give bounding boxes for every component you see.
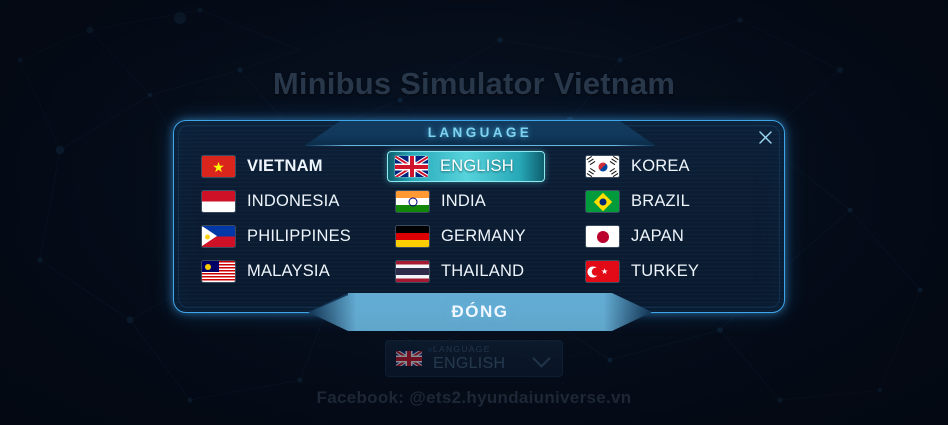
language-option-turkey[interactable]: ★TURKEY [577,256,765,287]
vietnam-flag-icon: ★ [202,156,235,177]
language-option-japan[interactable]: JAPAN [577,221,765,252]
language-dropdown-value: ENGLISH [433,356,505,372]
star-shape: ★ [212,160,225,174]
close-icon [759,131,772,144]
footer-credit: Facebook: @ets2.hyundaiuniverse.vn [0,388,948,408]
japan-flag-icon [586,226,619,247]
language-option-label: INDIA [441,192,486,211]
dialog-header: LANGUAGE [304,121,656,146]
language-dialog: LANGUAGE ★VIETNAMENGLISHKOREAINDONESIAIN… [173,120,785,313]
dialog-header-underline [304,145,656,146]
confirm-button[interactable]: ĐÓNG [308,293,652,331]
language-dropdown-text: LANGUAGE ENGLISH [433,345,505,372]
language-option-korea[interactable]: KOREA [577,151,765,182]
language-option-label: PHILIPPINES [247,227,351,246]
india-flag-icon [396,191,429,212]
page-title: Minibus Simulator Vietnam [0,66,948,102]
language-option-label: MALAYSIA [247,262,330,281]
language-dropdown-label: LANGUAGE [433,345,505,354]
close-button[interactable] [754,126,776,148]
language-option-label: VIETNAM [247,157,323,176]
language-list: ★VIETNAMENGLISHKOREAINDONESIAINDIABRAZIL… [193,149,765,289]
language-option-indonesia[interactable]: INDONESIA [193,186,387,217]
language-option-english[interactable]: ENGLISH [387,151,545,182]
uk-flag-icon [396,351,422,366]
language-option-germany[interactable]: GERMANY [387,221,577,252]
language-option-vietnam[interactable]: ★VIETNAM [193,151,387,182]
philippines-flag-icon [202,226,235,247]
confirm-button-label: ĐÓNG [308,293,652,331]
thailand-flag-icon [396,261,429,282]
language-option-label: JAPAN [631,227,684,246]
language-option-label: BRAZIL [631,192,690,211]
chevron-down-icon [532,349,550,367]
indonesia-flag-icon [202,191,235,212]
language-option-philippines[interactable]: PHILIPPINES [193,221,387,252]
language-option-label: GERMANY [441,227,526,246]
language-option-india[interactable]: INDIA [387,186,577,217]
language-dropdown[interactable]: LANGUAGE ENGLISH [385,340,563,377]
language-option-malaysia[interactable]: MALAYSIA [193,256,387,287]
language-option-label: THAILAND [441,262,524,281]
korea-flag-icon [586,156,619,177]
language-option-label: KOREA [631,157,690,176]
language-option-thailand[interactable]: THAILAND [387,256,577,287]
language-option-label: INDONESIA [247,192,340,211]
turkey-flag-icon: ★ [586,261,619,282]
language-option-label: ENGLISH [440,157,514,176]
language-option-label: TURKEY [631,262,699,281]
brazil-flag-icon [586,191,619,212]
dialog-title: LANGUAGE [428,125,532,140]
germany-flag-icon [396,226,429,247]
english-flag-icon [395,156,428,177]
language-option-brazil[interactable]: BRAZIL [577,186,765,217]
malaysia-flag-icon [202,261,235,282]
